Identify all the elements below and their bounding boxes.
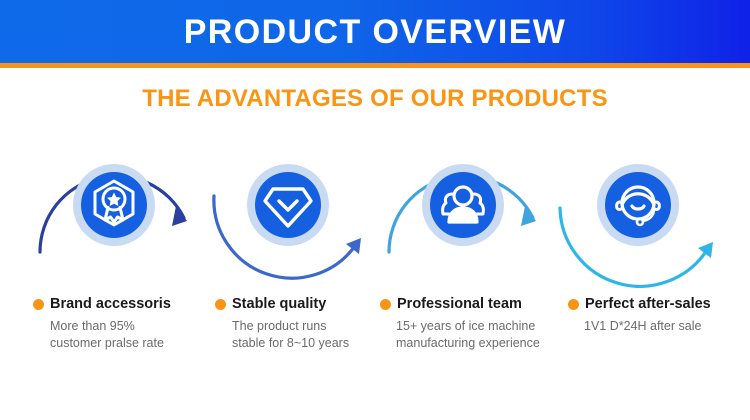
feature-text-cell-3: Professional team 15+ years of ice machi… <box>380 296 570 352</box>
feature-icon-cell-2 <box>200 138 375 288</box>
badge-star-icon <box>81 172 147 238</box>
bullet-dot-icon <box>380 299 391 310</box>
feature-icon-cell-4 <box>550 138 725 288</box>
feature-description-line: 1V1 D*24H after sale <box>584 318 748 335</box>
team-people-icon <box>430 172 496 238</box>
feature-icon-cell-3 <box>375 138 550 288</box>
feature-heading-label: Professional team <box>397 296 522 312</box>
feature-description-1: More than 95% customer pralse rate <box>33 318 213 352</box>
section-subtitle: THE ADVANTAGES OF OUR PRODUCTS <box>0 85 750 113</box>
product-overview-slide: PRODUCT OVERVIEW THE ADVANTAGES OF OUR P… <box>0 0 750 420</box>
feature-description-line: The product runs <box>232 318 395 335</box>
feature-description-line: More than 95% <box>50 318 213 335</box>
feature-heading-1: Brand accessoris <box>33 296 213 312</box>
feature-heading-2: Stable quality <box>215 296 395 312</box>
feature-description-4: 1V1 D*24H after sale <box>568 318 748 335</box>
feature-text-cell-1: Brand accessoris More than 95% customer … <box>33 296 213 352</box>
feature-heading-label: Stable quality <box>232 296 326 312</box>
feature-heading-label: Brand accessoris <box>50 296 171 312</box>
bullet-dot-icon <box>33 299 44 310</box>
feature-icon-cell-1 <box>26 138 201 288</box>
feature-description-line: customer pralse rate <box>50 335 213 352</box>
page-title: PRODUCT OVERVIEW <box>0 0 750 63</box>
header-orange-rule <box>0 63 750 68</box>
feature-description-line: stable for 8~10 years <box>232 335 395 352</box>
feature-text-cell-2: Stable quality The product runs stable f… <box>215 296 395 352</box>
feature-icon-row <box>0 138 750 288</box>
feature-heading-3: Professional team <box>380 296 570 312</box>
feature-description-2: The product runs stable for 8~10 years <box>215 318 395 352</box>
feature-heading-label: Perfect after-sales <box>585 296 711 312</box>
feature-heading-4: Perfect after-sales <box>568 296 748 312</box>
bullet-dot-icon <box>215 299 226 310</box>
feature-text-row: Brand accessoris More than 95% customer … <box>0 296 750 376</box>
headset-support-icon <box>605 172 671 238</box>
bullet-dot-icon <box>568 299 579 310</box>
feature-text-cell-4: Perfect after-sales 1V1 D*24H after sale <box>568 296 748 335</box>
feature-description-line: 15+ years of ice machine <box>396 318 570 335</box>
feature-description-line: manufacturing experience <box>396 335 570 352</box>
feature-description-3: 15+ years of ice machine manufacturing e… <box>380 318 570 352</box>
diamond-check-icon <box>255 172 321 238</box>
